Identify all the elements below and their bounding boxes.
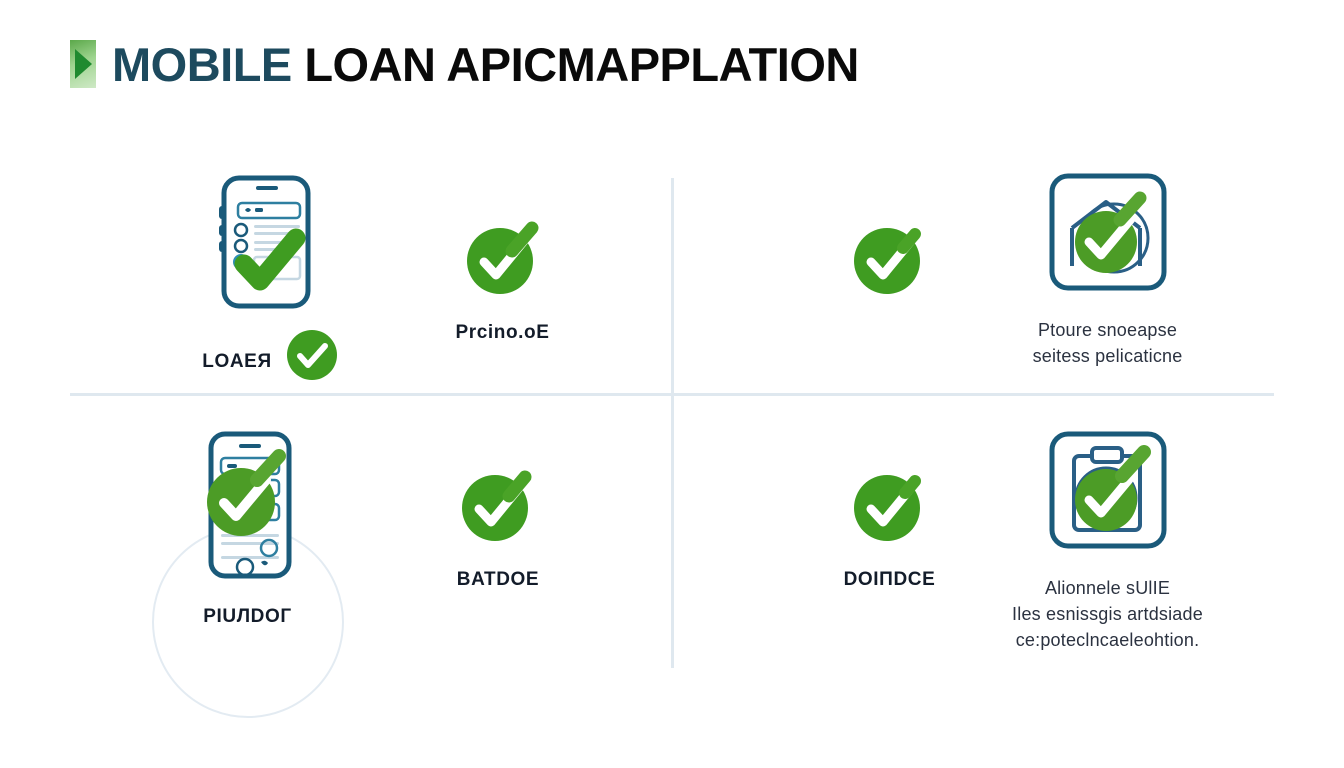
- page-title: MOBILE LOAN APICMAPPLATION: [112, 41, 859, 88]
- mobile-phone-list-icon: [173, 430, 323, 590]
- cell-mobile-process[interactable]: PIUЛDOГ: [135, 430, 360, 630]
- cell-secure-home[interactable]: Ptoure snoеapse sеitеss pеlicаticne: [985, 172, 1230, 369]
- cell-verification[interactable]: [795, 215, 985, 320]
- page-title-secondary: LOAN APICMAPPLATION: [292, 38, 859, 91]
- page-header: MOBILE LOAN APICMAPPLATION: [70, 40, 859, 88]
- check-circle-icon: [847, 462, 933, 553]
- vertical-divider: [671, 178, 674, 668]
- caption-line: Alionnele sUlIE: [1012, 575, 1203, 601]
- house-shield-check-icon: [1044, 172, 1172, 305]
- green-triangle-play-logo-icon: [70, 40, 96, 88]
- page-title-primary: MOBILE: [112, 38, 292, 91]
- slide-canvas: MOBILE LOAN APICMAPPLATION: [0, 0, 1344, 768]
- cell-label: BATDOE: [457, 567, 539, 593]
- cell-clipboard-audit[interactable]: Alionnele sUlIE Iles esnissgis аrtdsiade…: [985, 430, 1230, 653]
- check-circle-icon: [460, 215, 546, 306]
- cell-loan-form[interactable]: LOAEЯ: [150, 172, 390, 381]
- cell-label: Prcinо.оE: [455, 320, 549, 346]
- caption-line: Ptoure snoеapse: [1033, 317, 1183, 343]
- check-circle-icon: [455, 462, 541, 553]
- caption-line: Iles esnissgis аrtdsiade: [1012, 601, 1203, 627]
- label-row: LOAEЯ: [202, 329, 337, 381]
- check-circle-icon: [286, 329, 338, 381]
- cell-caption: Alionnele sUlIE Iles esnissgis аrtdsiade…: [1012, 575, 1203, 653]
- cell-approval[interactable]: Prcinо.оE: [400, 215, 605, 346]
- cell-caption: Ptoure snoеapse sеitеss pеlicаticne: [1033, 317, 1183, 369]
- clipboard-check-icon: [1044, 430, 1172, 563]
- cell-done[interactable]: DOIΠDCE: [792, 462, 987, 593]
- cell-label: DOIΠDCE: [844, 567, 936, 593]
- cell-label: LOAEЯ: [202, 349, 271, 375]
- caption-line: sеitеss pеlicаticne: [1033, 343, 1183, 369]
- cell-label: PIUЛDOГ: [203, 604, 291, 630]
- mobile-phone-form-icon: [200, 172, 340, 317]
- check-circle-icon: [847, 215, 933, 306]
- caption-line: ce:potеclnсaеleohtion.: [1012, 627, 1203, 653]
- cell-batch[interactable]: BATDOE: [398, 462, 598, 593]
